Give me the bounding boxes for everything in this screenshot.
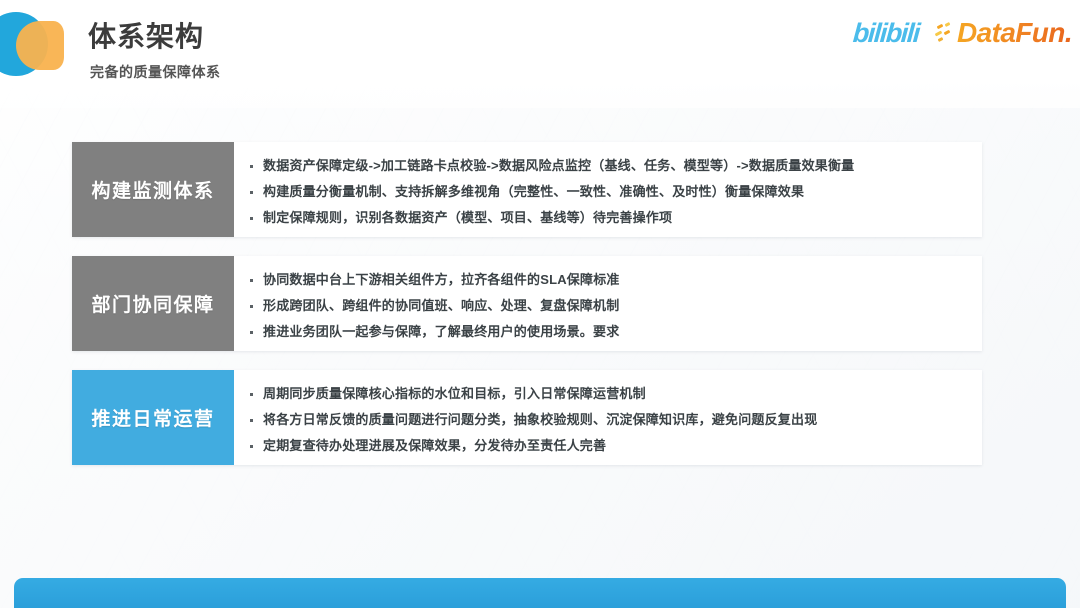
list-item: 协同数据中台上下游相关组件方，拉齐各组件的SLA保障标准 xyxy=(248,267,972,293)
bullet-dot-icon xyxy=(250,191,253,194)
bullet-dot-icon xyxy=(250,393,253,396)
content-row: 构建监测体系 数据资产保障定级->加工链路卡点校验->数据风险点监控（基线、任务… xyxy=(72,142,982,237)
bullet-dot-icon xyxy=(250,305,253,308)
slide-canvas: 体系架构 完备的质量保障体系 bilibili DataFun. 构建监测体系 … xyxy=(0,0,1080,608)
content-row: 部门协同保障 协同数据中台上下游相关组件方，拉齐各组件的SLA保障标准 形成跨团… xyxy=(72,256,982,351)
datafun-wordmark: DataFun. xyxy=(957,18,1072,48)
content-row: 推进日常运营 周期同步质量保障核心指标的水位和目标，引入日常保障运营机制 将各方… xyxy=(72,370,982,465)
bullet-text: 制定保障规则，识别各数据资产（模型、项目、基线等）待完善操作项 xyxy=(263,205,672,231)
bullet-text: 推进业务团队一起参与保障，了解最终用户的使用场景。要求 xyxy=(263,319,619,345)
bullet-text: 构建质量分衡量机制、支持拆解多维视角（完整性、一致性、准确性、及时性）衡量保障效… xyxy=(263,179,804,205)
bullet-text: 周期同步质量保障核心指标的水位和目标，引入日常保障运营机制 xyxy=(263,381,646,407)
brand-mark-logo xyxy=(2,8,80,78)
list-item: 将各方日常反馈的质量问题进行问题分类，抽象校验规则、沉淀保障知识库，避免问题反复… xyxy=(248,407,972,433)
row-label-2: 部门协同保障 xyxy=(72,256,234,351)
bullet-dot-icon xyxy=(250,331,253,334)
bullet-text: 数据资产保障定级->加工链路卡点校验->数据风险点监控（基线、任务、模型等）->… xyxy=(263,153,854,179)
list-item: 制定保障规则，识别各数据资产（模型、项目、基线等）待完善操作项 xyxy=(248,205,972,231)
list-item: 构建质量分衡量机制、支持拆解多维视角（完整性、一致性、准确性、及时性）衡量保障效… xyxy=(248,179,972,205)
content-rows: 构建监测体系 数据资产保障定级->加工链路卡点校验->数据风险点监控（基线、任务… xyxy=(72,142,982,465)
sparkle-icon xyxy=(935,22,955,44)
bullet-text: 将各方日常反馈的质量问题进行问题分类，抽象校验规则、沉淀保障知识库，避免问题反复… xyxy=(263,407,817,433)
list-item: 定期复查待办处理进展及保障效果，分发待办至责任人完善 xyxy=(248,433,972,459)
orange-blob-shape xyxy=(16,21,64,70)
bullet-text: 协同数据中台上下游相关组件方，拉齐各组件的SLA保障标准 xyxy=(263,267,620,293)
list-item: 数据资产保障定级->加工链路卡点校验->数据风险点监控（基线、任务、模型等）->… xyxy=(248,153,972,179)
list-item: 推进业务团队一起参与保障，了解最终用户的使用场景。要求 xyxy=(248,319,972,345)
list-item: 周期同步质量保障核心指标的水位和目标，引入日常保障运营机制 xyxy=(248,381,972,407)
row-body-3: 周期同步质量保障核心指标的水位和目标，引入日常保障运营机制 将各方日常反馈的质量… xyxy=(234,370,982,465)
page-title: 体系架构 xyxy=(88,18,221,56)
bilibili-logo: bilibili xyxy=(852,18,920,48)
list-item: 形成跨团队、跨组件的协同值班、响应、处理、复盘保障机制 xyxy=(248,293,972,319)
bottom-accent-bar xyxy=(14,578,1066,608)
datafun-logo: DataFun. xyxy=(935,18,1072,48)
row-label-3: 推进日常运营 xyxy=(72,370,234,465)
bullet-dot-icon xyxy=(250,279,253,282)
bullet-dot-icon xyxy=(250,217,253,220)
bullet-text: 定期复查待办处理进展及保障效果，分发待办至责任人完善 xyxy=(263,433,606,459)
bullet-dot-icon xyxy=(250,165,253,168)
bullet-dot-icon xyxy=(250,419,253,422)
title-block: 体系架构 完备的质量保障体系 xyxy=(88,18,221,82)
row-body-1: 数据资产保障定级->加工链路卡点校验->数据风险点监控（基线、任务、模型等）->… xyxy=(234,142,982,237)
row-body-2: 协同数据中台上下游相关组件方，拉齐各组件的SLA保障标准 形成跨团队、跨组件的协… xyxy=(234,256,982,351)
row-label-1: 构建监测体系 xyxy=(72,142,234,237)
bullet-dot-icon xyxy=(250,445,253,448)
bullet-text: 形成跨团队、跨组件的协同值班、响应、处理、复盘保障机制 xyxy=(263,293,619,319)
logo-group: bilibili DataFun. xyxy=(853,18,1072,48)
page-subtitle: 完备的质量保障体系 xyxy=(90,62,221,82)
